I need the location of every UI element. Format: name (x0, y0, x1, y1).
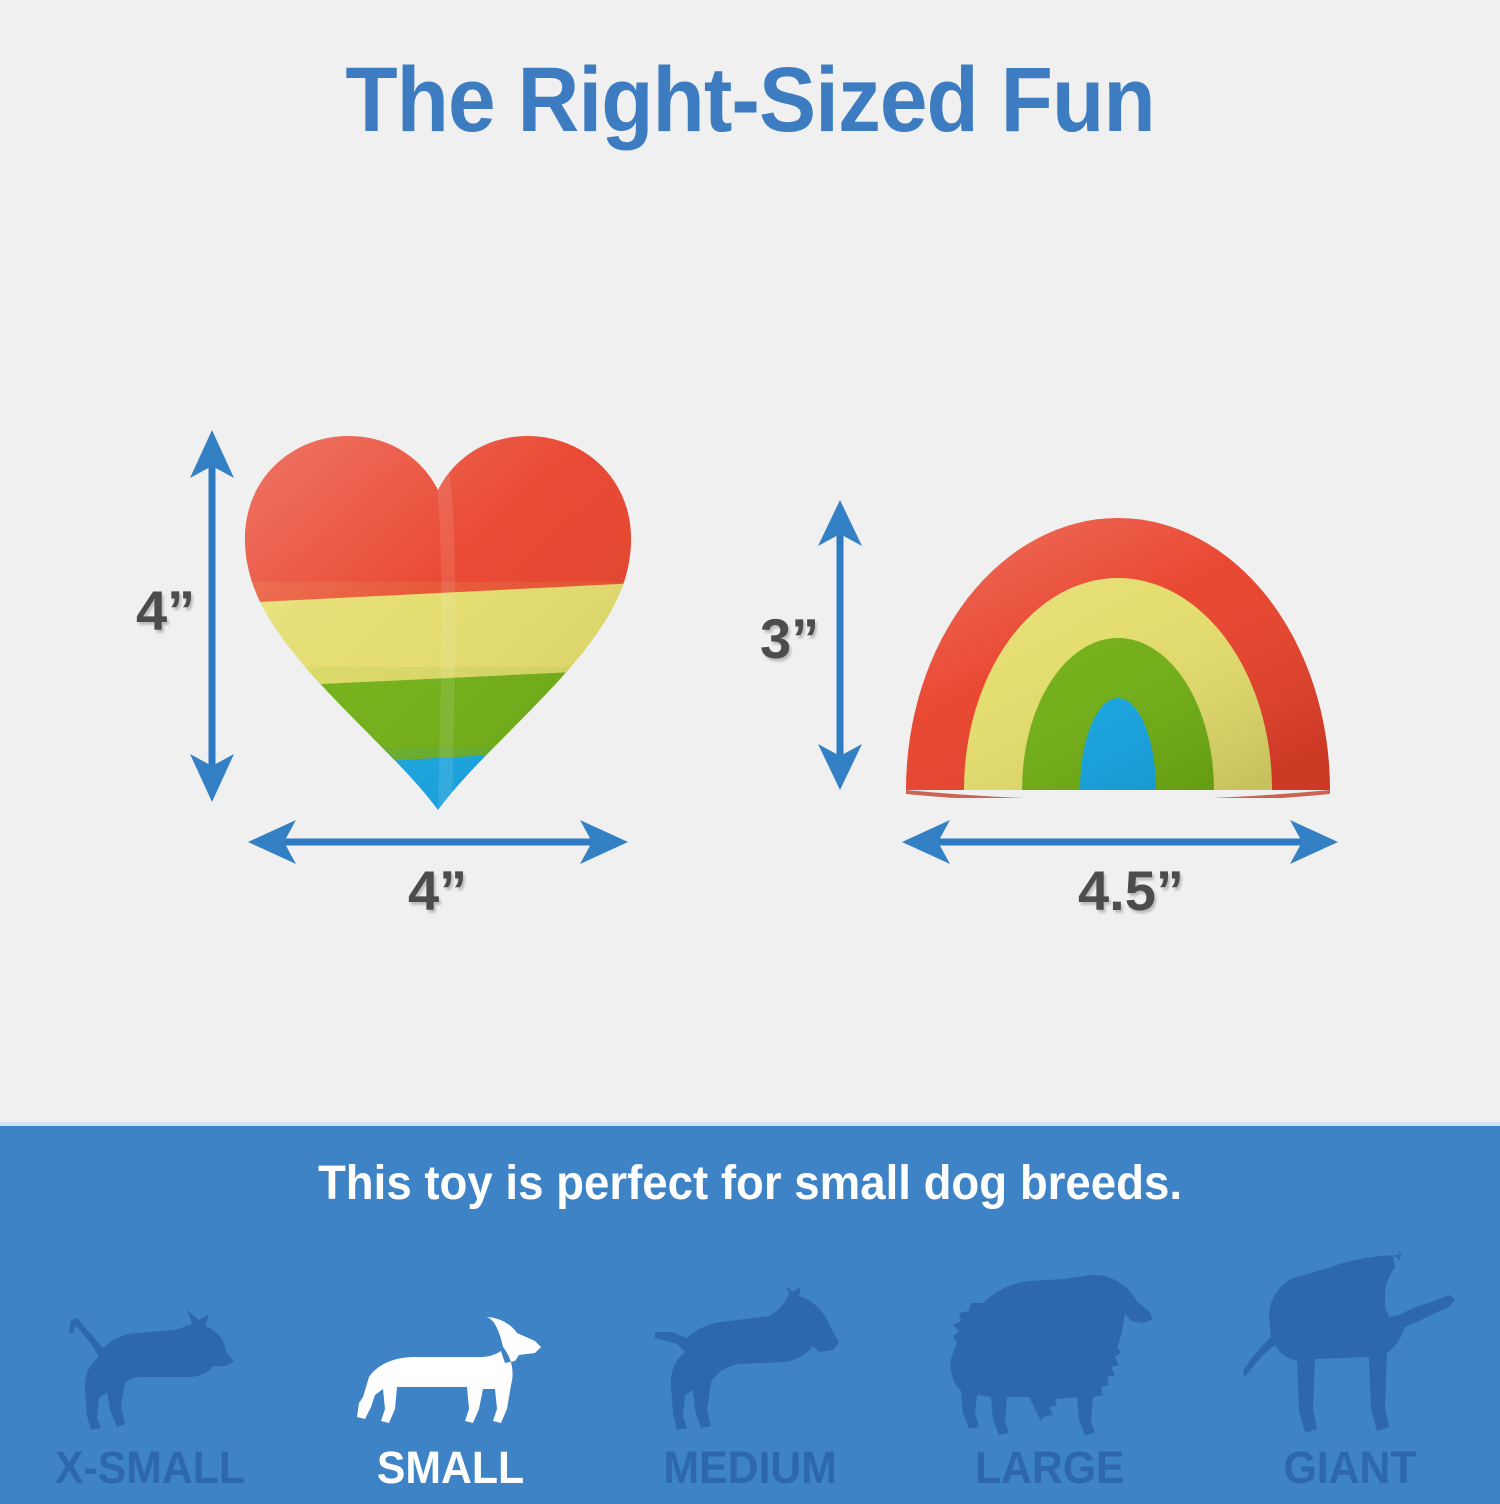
product-dimensions-area: 4” 4” (0, 0, 1500, 1122)
heart-height-label: 4” (136, 578, 195, 643)
size-option-x-small[interactable]: X-SMALL (5, 1234, 295, 1494)
size-option-small[interactable]: SMALL (305, 1234, 595, 1494)
size-label-giant: GIANT (1284, 1442, 1417, 1494)
infographic-page: The Right-Sized Fun (0, 0, 1500, 1500)
banner-message: This toy is perfect for small dog breeds… (38, 1156, 1463, 1211)
size-label-large: LARGE (975, 1442, 1125, 1494)
size-label-small: SMALL (376, 1442, 523, 1494)
rainbow-height-arrow (818, 498, 862, 794)
heart-height-arrow (190, 428, 234, 808)
size-label-medium: MEDIUM (663, 1442, 836, 1494)
size-label-x-small: X-SMALL (55, 1442, 245, 1494)
golden-retriever-dog-icon (945, 1246, 1155, 1436)
dachshund-dog-icon (355, 1246, 545, 1436)
bull-terrier-dog-icon (653, 1246, 848, 1436)
rainbow-arch-toy-image (898, 498, 1338, 798)
great-dane-dog-icon (1243, 1246, 1458, 1436)
heart-width-label: 4” (408, 858, 467, 923)
dog-size-scale: X-SMALL SMALL MEDIUM (0, 1224, 1500, 1494)
dog-size-banner: This toy is perfect for small dog breeds… (0, 1122, 1500, 1504)
rainbow-width-label: 4.5” (1078, 858, 1184, 923)
size-option-medium[interactable]: MEDIUM (605, 1234, 895, 1494)
size-option-large[interactable]: LARGE (905, 1234, 1195, 1494)
rainbow-heart-toy-image (238, 432, 638, 812)
heart-color-bands (238, 432, 638, 812)
rainbow-color-arcs (898, 498, 1338, 798)
size-option-giant[interactable]: GIANT (1205, 1234, 1495, 1494)
rainbow-height-label: 3” (760, 606, 819, 671)
chihuahua-dog-icon (63, 1246, 238, 1436)
